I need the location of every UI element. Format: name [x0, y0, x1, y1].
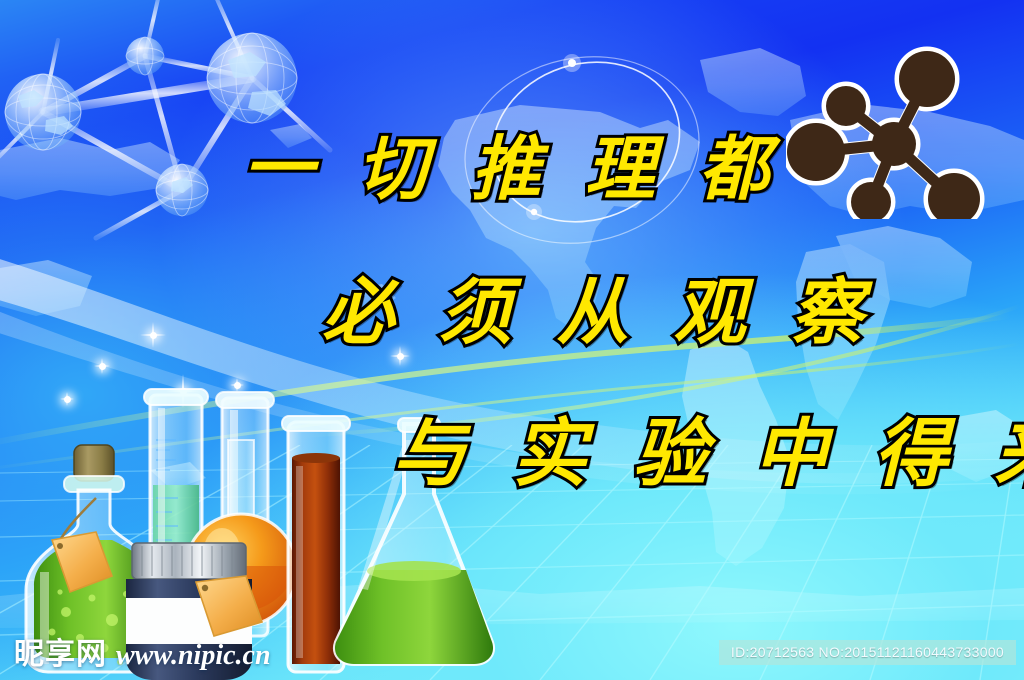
image-id-strip: ID:20712563 NO:20151121160443733000: [719, 640, 1016, 665]
headline-line-2: 必 须 从 观 察: [322, 253, 873, 358]
watermark-site-name: 昵享网: [14, 640, 107, 670]
headline-block: 一 切 推 理 都 必 须 从 观 察 与 实 验 中 得 来: [0, 0, 1024, 680]
watermark: 昵享网 www.nipic.cn: [14, 640, 271, 670]
poster-canvas: 一 切 推 理 都 必 须 从 观 察 与 实 验 中 得 来 昵享网 www.…: [0, 0, 1024, 680]
watermark-url: www.nipic.cn: [116, 642, 271, 670]
headline-line-3: 与 实 验 中 得 来: [392, 394, 1024, 501]
headline-line-1: 一 切 推 理 都: [243, 113, 779, 214]
